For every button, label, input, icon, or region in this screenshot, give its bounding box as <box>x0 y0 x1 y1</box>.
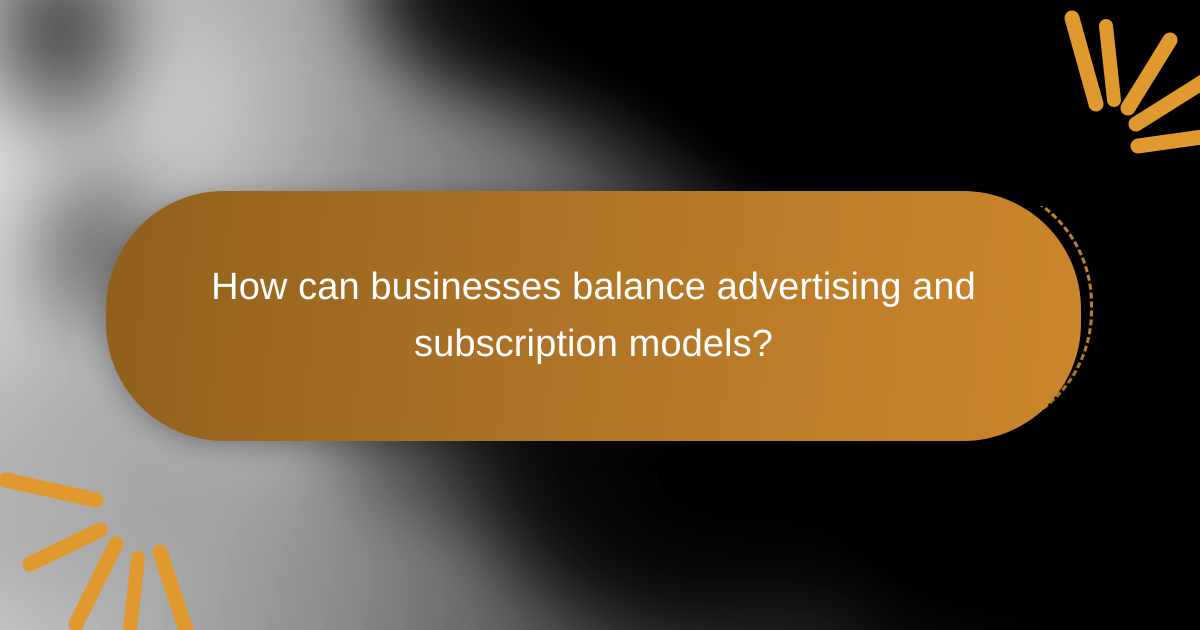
sunburst-ray <box>130 558 138 630</box>
sunburst-top-right <box>1010 0 1200 176</box>
sunburst-ray <box>1138 134 1200 146</box>
sunburst-ray <box>1072 18 1096 104</box>
sunburst-ray <box>1106 26 1114 100</box>
sunburst-ray <box>6 480 96 500</box>
question-card: How can businesses balance advertising a… <box>106 191 1081 441</box>
sunburst-ray <box>30 530 100 564</box>
sunburst-bottom-left <box>0 458 198 630</box>
question-text: How can businesses balance advertising a… <box>199 259 989 373</box>
social-card-canvas: How can businesses balance advertising a… <box>0 0 1200 630</box>
sunburst-ray <box>160 552 188 630</box>
sunburst-ray <box>76 544 116 624</box>
